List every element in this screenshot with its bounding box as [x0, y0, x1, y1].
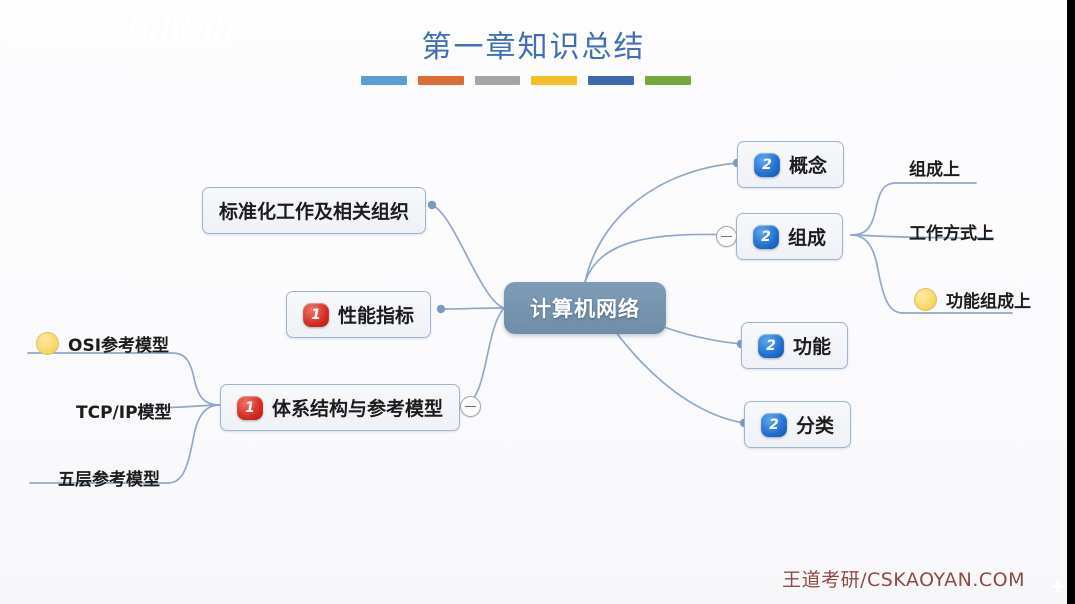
node-composition-label: 组成 [788, 223, 826, 250]
yellow-circle-icon [914, 288, 937, 311]
leaf-composition-function-label: 功能组成上 [946, 287, 1031, 312]
node-architecture-label: 体系结构与参考模型 [272, 394, 443, 421]
mindmap-center-node[interactable]: 计算机网络 [504, 282, 666, 334]
leaf-composition-workmode-label: 工作方式上 [909, 219, 994, 244]
chapter-badge-icon: 1 [303, 303, 329, 327]
chapter-badge-icon: 1 [237, 396, 263, 420]
node-standards[interactable]: 标准化工作及相关组织 [202, 187, 426, 234]
chapter-badge-icon: 2 [758, 334, 784, 358]
node-concept[interactable]: 2 概念 [737, 141, 844, 188]
leaf-osi-model-label: OSI参考模型 [68, 331, 169, 356]
leaf-tcpip-model[interactable]: TCP/IP模型 [76, 398, 172, 423]
yellow-circle-icon [36, 332, 59, 355]
screenshot-root: 第一章知识总结 王道论坛 bilibili 王道考研/CSKAOYAN.COM [0, 0, 1075, 604]
node-architecture[interactable]: 1 体系结构与参考模型 [220, 384, 460, 431]
mouse-cursor-icon: ✚ [1051, 580, 1065, 598]
leaf-tcpip-model-label: TCP/IP模型 [76, 398, 172, 423]
center-node-label: 计算机网络 [530, 293, 640, 323]
leaf-composition-workmode[interactable]: 工作方式上 [909, 219, 994, 244]
video-letterbox-right [1067, 0, 1075, 604]
leaf-osi-model[interactable]: OSI参考模型 [36, 331, 169, 356]
node-concept-label: 概念 [789, 151, 827, 178]
node-performance-label: 性能指标 [338, 301, 414, 328]
minus-icon [465, 406, 476, 408]
node-function-label: 功能 [793, 332, 831, 359]
collapse-toggle-composition[interactable] [716, 226, 737, 247]
leaf-five-layer-model-label: 五层参考模型 [58, 465, 160, 490]
node-composition[interactable]: 2 组成 [736, 213, 843, 260]
minus-icon [721, 236, 732, 238]
chapter-badge-icon: 2 [753, 225, 779, 249]
leaf-five-layer-model[interactable]: 五层参考模型 [58, 465, 160, 490]
node-category-label: 分类 [796, 411, 834, 438]
node-function[interactable]: 2 功能 [741, 322, 848, 369]
chapter-badge-icon: 2 [754, 153, 780, 177]
slide-canvas: 第一章知识总结 王道论坛 bilibili 王道考研/CSKAOYAN.COM [0, 0, 1067, 604]
node-category[interactable]: 2 分类 [744, 401, 851, 448]
leaf-composition-function[interactable]: 功能组成上 [914, 287, 1031, 312]
chapter-badge-icon: 2 [761, 413, 787, 437]
leaf-composition-structure[interactable]: 组成上 [909, 155, 960, 180]
collapse-toggle-architecture[interactable] [460, 396, 481, 417]
node-performance[interactable]: 1 性能指标 [286, 291, 431, 338]
node-standards-label: 标准化工作及相关组织 [219, 197, 409, 224]
leaf-composition-structure-label: 组成上 [909, 155, 960, 180]
